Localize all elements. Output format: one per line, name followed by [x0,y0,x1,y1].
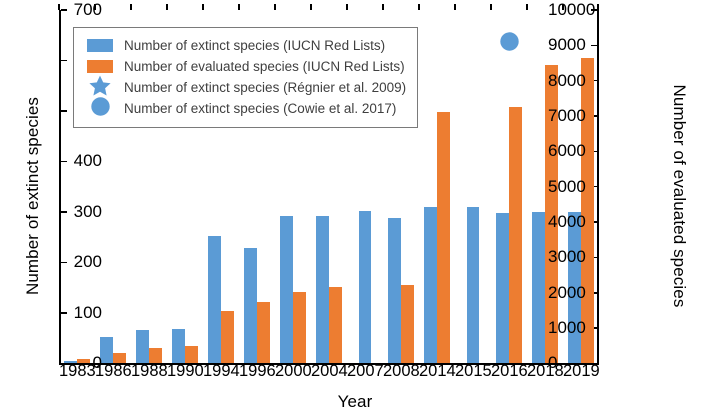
legend-label: Number of extinct species (Cowie et al. … [124,101,396,116]
y-ticklabel-left: 300 [0,203,102,220]
y-ticklabel-right: 7000 [548,107,668,124]
x-ticklabel: 2007 [347,362,383,381]
legend-swatch-orange [87,60,113,73]
legend-key [85,98,115,119]
bar-extinct-species [467,207,479,364]
legend-circle-icon [91,97,110,121]
x-ticklabel: 2014 [419,362,455,381]
y-ticklabel-right: 6000 [548,142,668,159]
x-ticklabel: 2016 [491,362,527,381]
y-ticklabel-left: 400 [0,152,102,169]
legend-item: Number of evaluated species (IUCN Red Li… [85,56,406,77]
x-ticklabel: 1983 [59,362,95,381]
circle-marker-icon [500,32,519,51]
bar-extinct-species [424,207,436,364]
legend-key [85,77,115,98]
bar-extinct-species [316,216,328,363]
x-ticklabel: 1996 [239,362,275,381]
bar-extinct-species [208,236,220,364]
bar-evaluated-species [185,346,197,364]
legend-item: Number of extinct species (Cowie et al. … [85,98,406,119]
legend-label: Number of extinct species (Régnier et al… [124,80,406,95]
bar-evaluated-species [509,107,521,363]
x-ticklabel: 2019 [563,362,599,381]
bar-evaluated-species [293,292,305,363]
y-ticklabel-left: 700 [0,1,102,18]
bar-extinct-species [172,329,184,363]
y-ticklabel-left: 200 [0,253,102,270]
y-ticklabel-right: 2000 [548,284,668,301]
bar-evaluated-species [257,302,269,363]
legend-label: Number of evaluated species (IUCN Red Li… [124,59,405,74]
bar-extinct-species [496,213,508,363]
legend-item: Number of extinct species (Régnier et al… [85,77,406,98]
legend-label: Number of extinct species (IUCN Red List… [124,38,385,53]
x-ticklabel: 2000 [275,362,311,381]
bar-extinct-species [359,211,371,363]
y-ticklabel-right: 4000 [548,213,668,230]
bar-extinct-species [532,212,544,363]
x-ticklabel: 2004 [311,362,347,381]
bar-extinct-species [244,248,256,363]
y-ticklabel-right: 1000 [548,319,668,336]
x-ticklabel: 2018 [527,362,563,381]
x-ticklabel: 1990 [167,362,203,381]
chart-figure: Number of extinct species Number of eval… [0,0,710,416]
bar-extinct-species [136,330,148,364]
y-ticklabel-left: 100 [0,304,102,321]
legend-key [85,35,115,56]
bar-extinct-species [280,216,292,363]
x-ticklabel: 2015 [455,362,491,381]
bar-evaluated-species [401,285,413,363]
bar-extinct-species [100,337,112,363]
x-ticklabel: 1986 [95,362,131,381]
chart-legend: Number of extinct species (IUCN Red List… [73,27,418,128]
x-ticklabel: 2008 [383,362,419,381]
x-ticklabel: 1988 [131,362,167,381]
legend-swatch-blue [87,39,113,52]
bar-extinct-species [388,218,400,363]
y-ticklabel-right: 9000 [548,36,668,53]
y-ticklabel-right: 8000 [548,72,668,89]
x-axis-title: Year [0,392,710,412]
bar-evaluated-species [221,311,233,363]
y-ticklabel-right: 10000 [548,1,668,18]
x-ticklabel: 1994 [203,362,239,381]
y-ticklabel-right: 3000 [548,248,668,265]
bar-evaluated-species [437,112,449,363]
y-axis-title-right: Number of evaluated species [669,66,689,326]
legend-item: Number of extinct species (IUCN Red List… [85,35,406,56]
bar-evaluated-species [329,287,341,364]
y-ticklabel-right: 5000 [548,178,668,195]
